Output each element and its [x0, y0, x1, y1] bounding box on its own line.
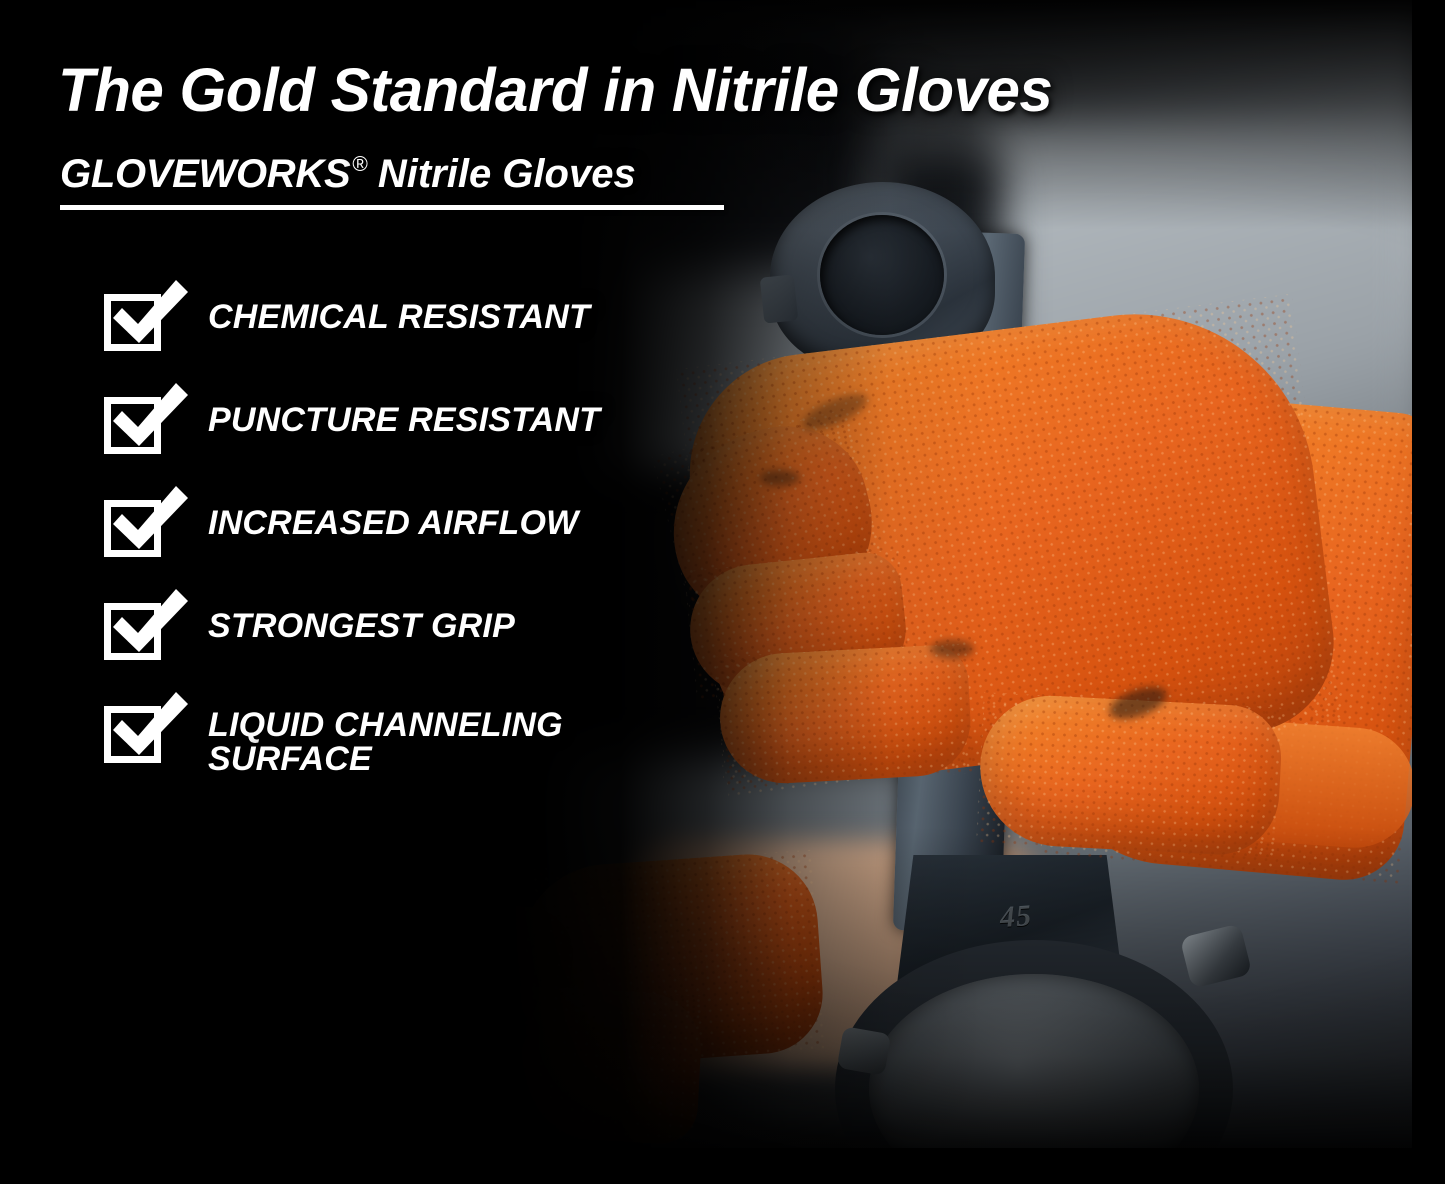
checkbox-box: [104, 294, 161, 351]
registered-trademark-icon: ®: [352, 153, 367, 177]
feature-label: LIQUID CHANNELING SURFACE: [208, 708, 563, 776]
page-title: The Gold Standard in Nitrile Gloves: [58, 58, 1368, 123]
list-item: LIQUID CHANNELING SURFACE: [104, 704, 724, 807]
feature-label: INCREASED AIRFLOW: [208, 506, 578, 540]
feature-label: STRONGEST GRIP: [208, 609, 515, 643]
product-name: Nitrile Gloves: [378, 152, 636, 196]
checkbox-box: [104, 603, 161, 660]
feature-label: PUNCTURE RESISTANT: [208, 403, 600, 437]
list-item: CHEMICAL RESISTANT: [104, 292, 724, 395]
checkbox-box: [104, 500, 161, 557]
brand-subtitle: GLOVEWORKS®Nitrile Gloves: [60, 152, 636, 197]
feature-label: CHEMICAL RESISTANT: [208, 300, 590, 334]
list-item: STRONGEST GRIP: [104, 601, 724, 704]
divider-rule: [60, 205, 724, 210]
banner-content: The Gold Standard in Nitrile Gloves GLOV…: [0, 0, 1445, 1184]
feature-list: CHEMICAL RESISTANT PUNCTURE RESISTANT IN…: [104, 292, 724, 807]
brand-name: GLOVEWORKS: [60, 152, 350, 196]
checkbox-box: [104, 706, 161, 763]
list-item: PUNCTURE RESISTANT: [104, 395, 724, 498]
list-item: INCREASED AIRFLOW: [104, 498, 724, 601]
product-banner: 45 The Gold Standard in Nitrile: [0, 0, 1445, 1184]
checkbox-box: [104, 397, 161, 454]
